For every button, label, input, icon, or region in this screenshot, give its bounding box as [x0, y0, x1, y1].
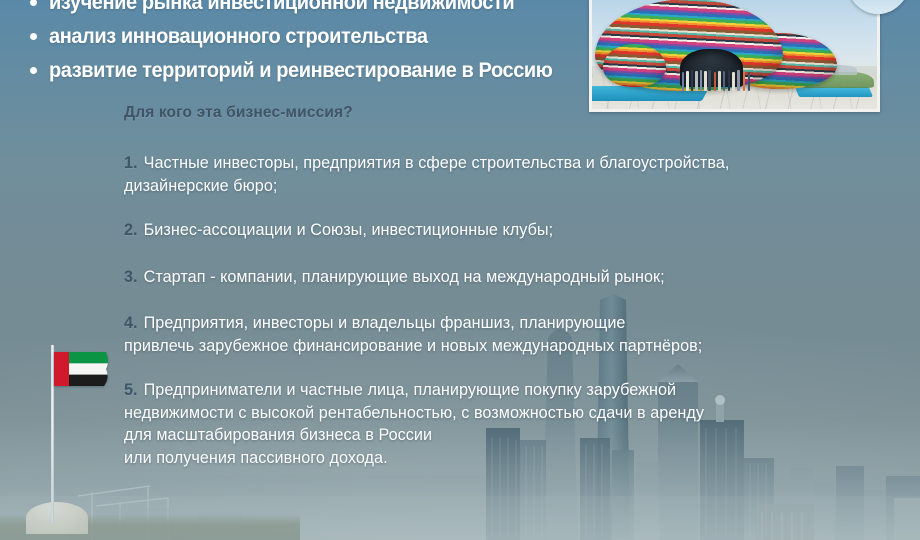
- audience-line: недвижимости с высокой рентабельностью, …: [124, 402, 904, 425]
- audience-line: 5.Предприниматели и частные лица, планир…: [124, 379, 904, 402]
- audience-line: 3.Стартап - компании, планирующие выход …: [124, 266, 904, 289]
- bullet-dot-icon: [30, 0, 37, 6]
- photo-crowd: [680, 69, 754, 91]
- bullet-label: изучение рынка инвестиционной недвижимос…: [49, 0, 514, 17]
- audience-line: 1.Частные инвесторы, предприятия в сфере…: [124, 152, 904, 175]
- audience-line: для масштабирования бизнеса в России: [124, 424, 904, 447]
- list-item: изучение рынка инвестиционной недвижимос…: [30, 0, 630, 17]
- audience-line: 2.Бизнес-ассоциации и Союзы, инвестицион…: [124, 219, 904, 242]
- audience-line: привлечь зарубежное финансирование и нов…: [124, 335, 904, 358]
- pavilion-photo: [589, 0, 880, 112]
- item-number: 1.: [124, 154, 138, 172]
- item-number: 3.: [124, 268, 138, 286]
- list-item: развитие территорий и реинвестирование в…: [30, 55, 630, 85]
- item-text: Предприниматели и частные лица, планирую…: [144, 381, 677, 399]
- photo-pool-right: [795, 87, 873, 97]
- pavilion-photo-image: [592, 0, 877, 109]
- badge-sky: [844, 0, 912, 14]
- audience-item-1: 1.Частные инвесторы, предприятия в сфере…: [124, 152, 904, 197]
- audience-item-4: 4.Предприятия, инвесторы и владельцы фра…: [124, 312, 904, 357]
- audience-item-3: 3.Стартап - компании, планирующие выход …: [124, 266, 904, 289]
- item-number: 5.: [124, 381, 138, 399]
- bullet-label: развитие территорий и реинвестирование в…: [49, 55, 552, 85]
- audience-item-2: 2.Бизнес-ассоциации и Союзы, инвестицион…: [124, 219, 904, 242]
- uae-flag-icon: [54, 352, 110, 386]
- item-text: Бизнес-ассоциации и Союзы, инвестиционны…: [144, 221, 554, 239]
- item-number: 4.: [124, 314, 138, 332]
- key-points-list: изучение рынка инвестиционной недвижимос…: [30, 0, 630, 89]
- list-item: анализ инновационного строительства: [30, 21, 630, 51]
- audience-line: или получения пассивного дохода.: [124, 447, 904, 470]
- bullet-dot-icon: [30, 67, 37, 74]
- audience-section: Для кого эта бизнес-миссия? 1.Частные ин…: [124, 104, 904, 469]
- bullet-label: анализ инновационного строительства: [49, 21, 428, 51]
- white-dome: [26, 502, 88, 534]
- item-number: 2.: [124, 221, 138, 239]
- slide-canvas: изучение рынка инвестиционной недвижимос…: [0, 0, 920, 540]
- item-text: Частные инвесторы, предприятия в сфере с…: [144, 154, 730, 172]
- audience-item-5: 5.Предприниматели и частные лица, планир…: [124, 379, 904, 469]
- emblem-badge-icon: [844, 0, 912, 14]
- bullet-dot-icon: [30, 33, 37, 40]
- audience-line: дизайнерские бюро;: [124, 175, 904, 198]
- item-text: Стартап - компании, планирующие выход на…: [144, 268, 665, 286]
- audience-line: 4.Предприятия, инвесторы и владельцы фра…: [124, 312, 904, 335]
- item-text: Предприятия, инвесторы и владельцы франш…: [144, 314, 626, 332]
